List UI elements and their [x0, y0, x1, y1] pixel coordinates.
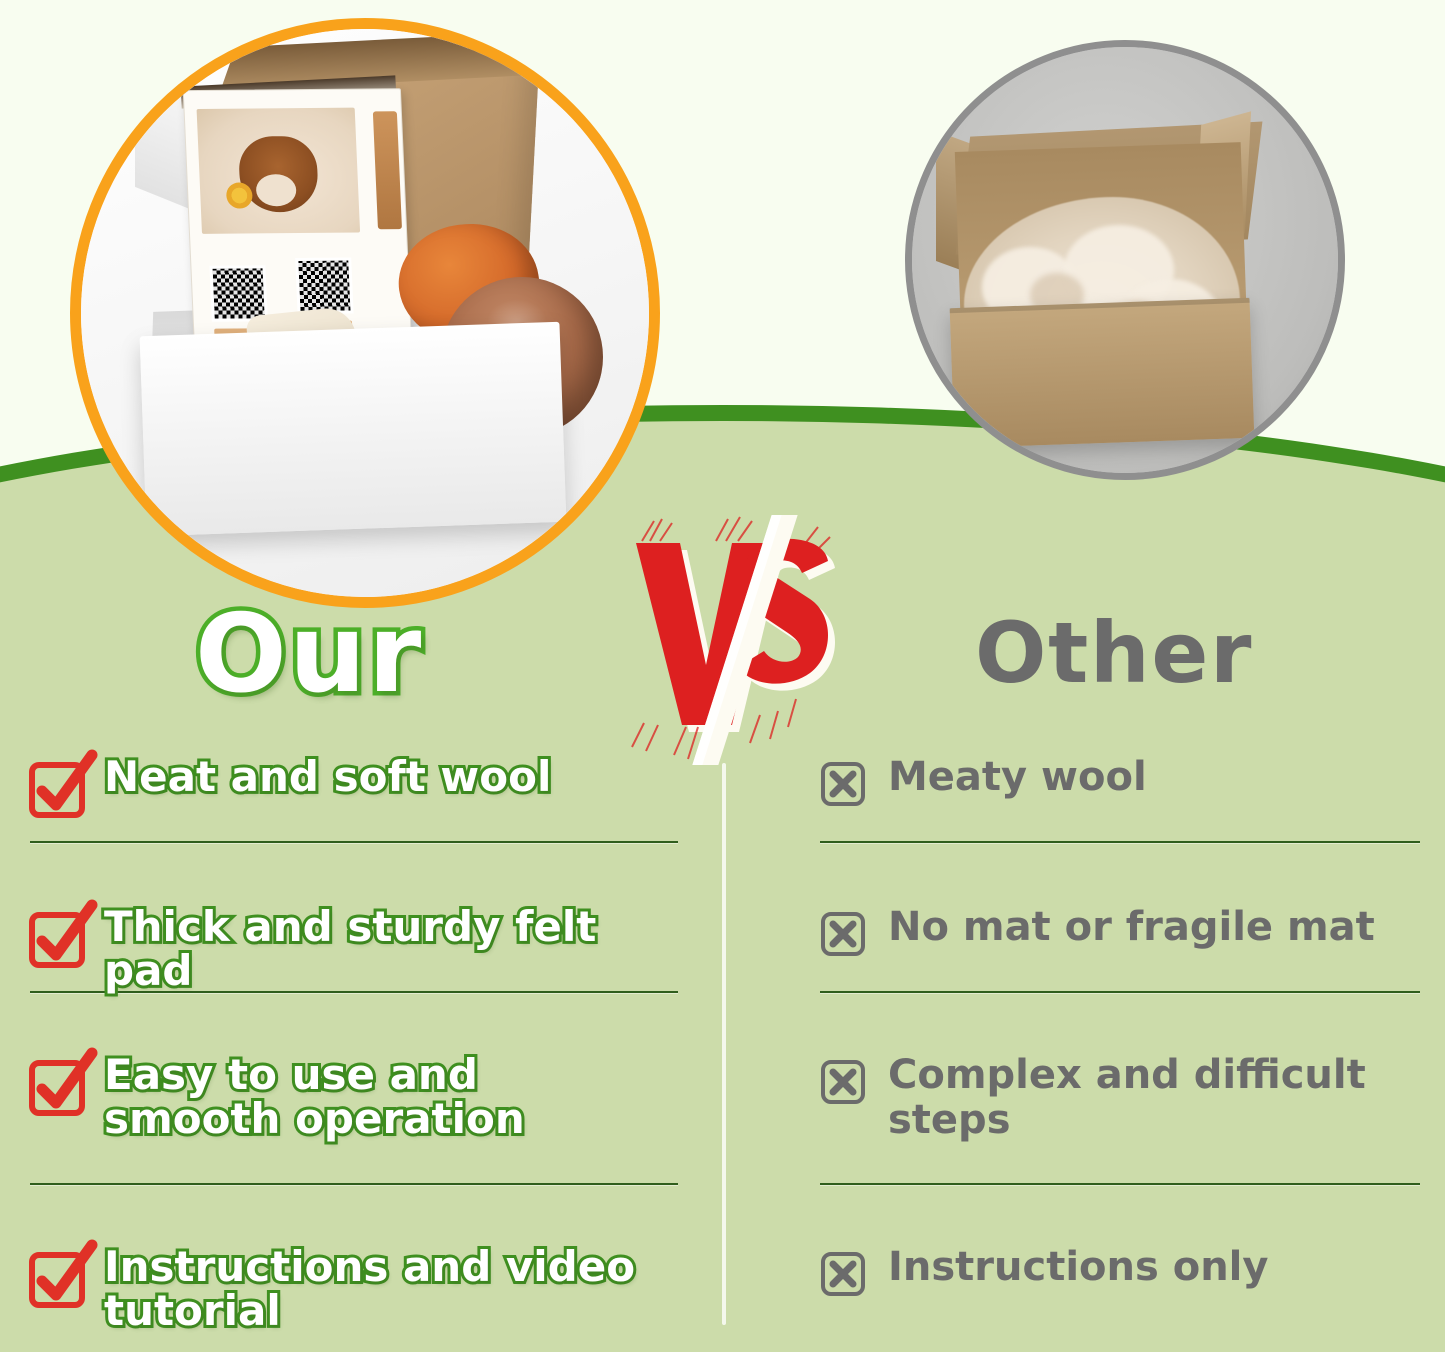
- check-icon: [30, 1249, 82, 1301]
- list-item: Thick and sturdy felt pad: [30, 905, 678, 991]
- check-icon: [30, 759, 82, 811]
- other-product-photo: [905, 40, 1345, 480]
- list-item: Instructions only: [820, 1245, 1420, 1352]
- list-item: Complex and difficult steps: [820, 1053, 1420, 1183]
- qr-code-icon: [209, 265, 267, 321]
- page-title-other: Other: [975, 604, 1253, 702]
- other-feature-list: Meaty wool No mat or fragile mat Compl: [820, 755, 1420, 1352]
- x-icon: [820, 1059, 866, 1105]
- check-icon: [30, 1057, 82, 1109]
- list-item-label: Neat and soft wool: [104, 755, 551, 799]
- list-item: Meaty wool: [820, 755, 1420, 841]
- list-item-label: Instructions and video tutorial: [104, 1245, 664, 1332]
- list-item: Instructions and video tutorial: [30, 1245, 678, 1352]
- check-icon: [30, 909, 82, 961]
- page-title-our: Our: [195, 592, 423, 717]
- list-item: Easy to use and smooth operation: [30, 1053, 678, 1183]
- our-product-photo: [70, 18, 660, 608]
- x-icon: [820, 1251, 866, 1297]
- list-item: Neat and soft wool: [30, 755, 678, 841]
- vs-badge: [628, 515, 848, 765]
- infographic-stage: Our Other Neat and soft wool Thick and: [0, 0, 1445, 1352]
- list-item-label: Meaty wool: [888, 755, 1147, 800]
- our-product-photo-content: [81, 29, 649, 597]
- column-divider: [722, 763, 726, 1325]
- list-item: No mat or fragile mat: [820, 905, 1420, 991]
- our-feature-list: Neat and soft wool Thick and sturdy felt…: [30, 755, 678, 1352]
- x-icon: [820, 761, 866, 807]
- x-icon: [820, 911, 866, 957]
- other-product-photo-content: [912, 47, 1338, 473]
- list-item-label: Instructions only: [888, 1245, 1268, 1290]
- list-item-label: Complex and difficult steps: [888, 1053, 1408, 1143]
- qr-code-icon: [295, 258, 353, 314]
- list-item-label: Easy to use and smooth operation: [104, 1053, 664, 1140]
- list-item-label: No mat or fragile mat: [888, 905, 1375, 950]
- list-item-label: Thick and sturdy felt pad: [104, 905, 664, 992]
